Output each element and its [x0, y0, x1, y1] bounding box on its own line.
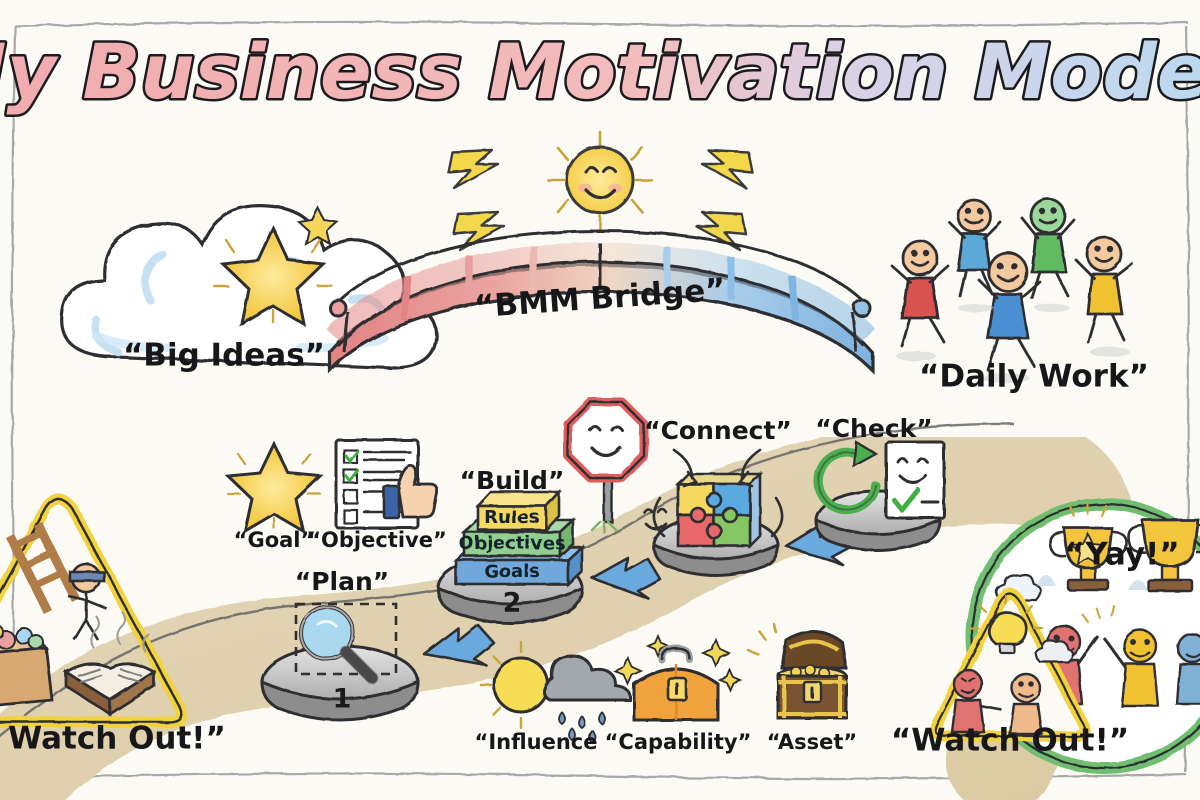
step-2-number: 2 — [503, 588, 522, 619]
daily-work-label: “Daily Work” — [919, 359, 1149, 395]
title-text: “My Business Motivation Model!” — [0, 27, 1200, 116]
block-label-rules: Rules — [484, 507, 540, 528]
asset-label: “Asset” — [767, 730, 857, 754]
influence-label: “Influence — [475, 730, 598, 754]
block-label-objectives: Objectives — [459, 533, 566, 554]
capability-label: “Capability” — [605, 730, 752, 754]
goal-label: “Goal” — [234, 528, 315, 552]
watch-out-left-label: Watch Out!” — [8, 721, 226, 757]
block-label-goals: Goals — [484, 561, 540, 582]
objective-label: “Objective” — [307, 528, 447, 552]
plan-label: “Plan” — [295, 567, 389, 596]
check-label: “Check” — [815, 414, 932, 443]
yay-label: “Yay!” — [1064, 537, 1179, 573]
cloud-label: “Big Ideas” — [123, 338, 325, 374]
connect-label: “Connect” — [644, 416, 792, 445]
build-label: “Build” — [460, 466, 565, 495]
sketch-canvas: “My Business Motivation Model!” — [0, 0, 1200, 800]
page-title: “My Business Motivation Model!” — [0, 27, 1200, 116]
step-1-number: 1 — [333, 684, 352, 715]
watch-out-right-label: “Watch Out!” — [891, 723, 1129, 759]
